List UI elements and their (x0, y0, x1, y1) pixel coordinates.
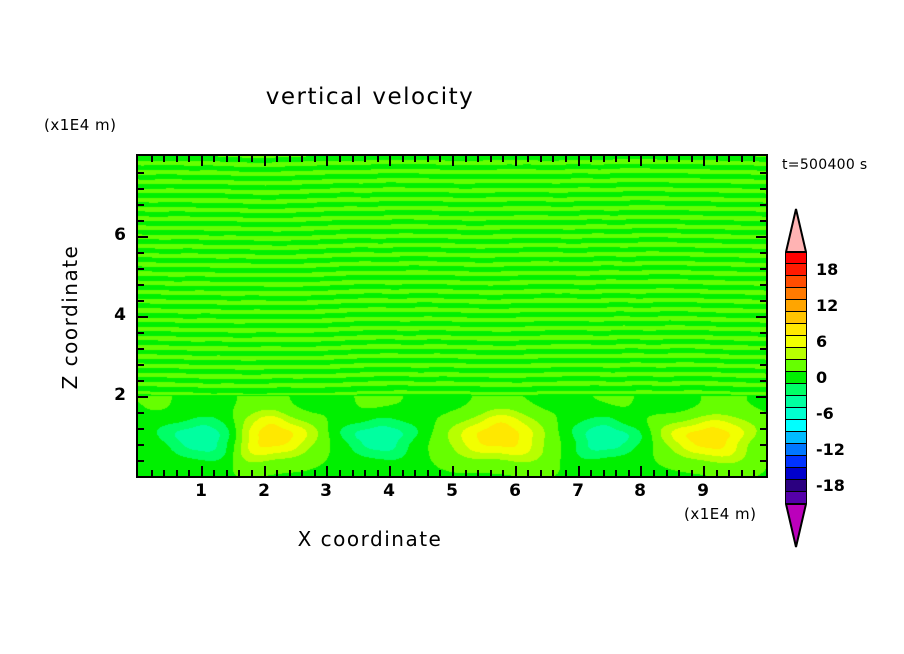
x-axis-title: X coordinate (0, 527, 740, 551)
x-tick-label: 3 (306, 481, 346, 501)
tick-mark (760, 380, 766, 382)
tick-mark (741, 156, 743, 162)
tick-mark (402, 470, 404, 476)
tick-mark (176, 156, 178, 162)
colorbar-band (785, 264, 807, 276)
tick-mark (760, 220, 766, 222)
tick-mark (703, 156, 705, 166)
tick-mark (138, 220, 144, 222)
tick-mark (439, 470, 441, 476)
tick-mark (276, 470, 278, 476)
tick-mark (515, 466, 517, 476)
tick-mark (138, 332, 144, 334)
tick-mark (465, 156, 467, 162)
tick-mark (490, 156, 492, 162)
tick-mark (578, 466, 580, 476)
tick-mark (251, 156, 253, 162)
tick-mark (326, 466, 328, 476)
colorbar-band (785, 420, 807, 432)
tick-mark (760, 268, 766, 270)
tick-mark (666, 156, 668, 162)
tick-mark (138, 268, 144, 270)
tick-mark (760, 460, 766, 462)
tick-mark (364, 470, 366, 476)
tick-mark (276, 156, 278, 162)
tick-mark (427, 470, 429, 476)
colorbar-band (785, 336, 807, 348)
tick-mark (201, 466, 203, 476)
colorbar-tick-label: -12 (816, 440, 845, 459)
tick-mark (251, 470, 253, 476)
tick-mark (756, 316, 766, 318)
tick-mark (264, 156, 266, 166)
tick-mark (138, 188, 144, 190)
tick-mark (138, 300, 144, 302)
colorbar-band (785, 348, 807, 360)
tick-mark (138, 364, 144, 366)
tick-mark (760, 172, 766, 174)
tick-mark (753, 470, 755, 476)
tick-mark (339, 156, 341, 162)
tick-mark (756, 236, 766, 238)
tick-mark (760, 332, 766, 334)
page-title: vertical velocity (0, 84, 740, 110)
tick-mark (540, 156, 542, 162)
tick-mark (640, 156, 642, 166)
tick-mark (760, 284, 766, 286)
tick-mark (515, 156, 517, 166)
tick-mark (753, 156, 755, 162)
colorbar-tick-label: 12 (816, 296, 838, 315)
tick-mark (741, 470, 743, 476)
colorbar-band (785, 288, 807, 300)
tick-mark (213, 156, 215, 162)
x-tick-label: 5 (432, 481, 472, 501)
colorbar-band (785, 300, 807, 312)
time-stamp-label: t=500400 s (782, 157, 867, 173)
tick-mark (339, 470, 341, 476)
colorbar-band (785, 432, 807, 444)
colorbar-tick-label: 18 (816, 260, 838, 279)
tick-mark (188, 156, 190, 162)
tick-mark (628, 156, 630, 162)
tick-mark (477, 156, 479, 162)
tick-mark (653, 156, 655, 162)
tick-mark (352, 470, 354, 476)
tick-mark (138, 460, 144, 462)
tick-mark (289, 470, 291, 476)
tick-mark (465, 470, 467, 476)
tick-mark (527, 470, 529, 476)
y-tick-label: 2 (86, 385, 126, 405)
tick-mark (578, 156, 580, 166)
tick-mark (565, 156, 567, 162)
tick-mark (138, 348, 144, 350)
colorbar-band (785, 276, 807, 288)
tick-mark (414, 156, 416, 162)
tick-mark (264, 466, 266, 476)
tick-mark (163, 156, 165, 162)
contour-plot-area (136, 154, 768, 478)
tick-mark (716, 470, 718, 476)
tick-mark (188, 470, 190, 476)
tick-mark (716, 156, 718, 162)
tick-mark (377, 470, 379, 476)
tick-mark (151, 470, 153, 476)
tick-mark (138, 236, 148, 238)
tick-mark (138, 252, 144, 254)
tick-mark (138, 444, 144, 446)
colorbar-band (785, 252, 807, 264)
colorbar-band (785, 468, 807, 480)
colorbar-tick-label: 0 (816, 368, 827, 387)
colorbar-band (785, 444, 807, 456)
tick-mark (490, 470, 492, 476)
tick-mark (314, 470, 316, 476)
tick-mark (226, 470, 228, 476)
tick-mark (756, 396, 766, 398)
tick-mark (691, 156, 693, 162)
tick-mark (201, 156, 203, 166)
tick-mark (502, 156, 504, 162)
tick-mark (628, 470, 630, 476)
x-tick-label: 7 (558, 481, 598, 501)
tick-mark (138, 428, 144, 430)
x-tick-label: 8 (620, 481, 660, 501)
tick-mark (138, 316, 148, 318)
tick-mark (138, 284, 144, 286)
tick-mark (552, 156, 554, 162)
tick-mark (502, 470, 504, 476)
colorbar-tick-label: 6 (816, 332, 827, 351)
tick-mark (540, 470, 542, 476)
tick-mark (352, 156, 354, 162)
tick-mark (640, 466, 642, 476)
x-tick-label: 2 (244, 481, 284, 501)
tick-mark (728, 470, 730, 476)
tick-mark (590, 156, 592, 162)
tick-mark (226, 156, 228, 162)
tick-mark (402, 156, 404, 162)
colorbar-band (785, 396, 807, 408)
tick-mark (163, 470, 165, 476)
x-tick-label: 1 (181, 481, 221, 501)
tick-mark (760, 348, 766, 350)
x-tick-label: 6 (495, 481, 535, 501)
tick-mark (691, 470, 693, 476)
tick-mark (238, 470, 240, 476)
vertical-velocity-field (138, 156, 766, 476)
tick-mark (477, 470, 479, 476)
colorbar-band (785, 456, 807, 468)
colorbar-band (785, 384, 807, 396)
tick-mark (377, 156, 379, 162)
y-tick-label: 6 (86, 225, 126, 245)
x-axis-unit-label: (x1E4 m) (684, 505, 757, 523)
tick-mark (678, 470, 680, 476)
tick-mark (301, 156, 303, 162)
tick-mark (760, 364, 766, 366)
colorbar-bottom-arrow (785, 503, 807, 549)
tick-mark (653, 470, 655, 476)
tick-mark (439, 156, 441, 162)
tick-mark (452, 466, 454, 476)
y-axis-title: Z coordinate (58, 217, 82, 417)
x-tick-label: 4 (369, 481, 409, 501)
tick-mark (138, 396, 148, 398)
tick-mark (138, 172, 144, 174)
tick-mark (427, 156, 429, 162)
tick-mark (728, 156, 730, 162)
tick-mark (389, 466, 391, 476)
tick-mark (760, 252, 766, 254)
y-axis-unit-label: (x1E4 m) (44, 116, 117, 134)
tick-mark (703, 466, 705, 476)
tick-mark (615, 470, 617, 476)
colorbar-bands (785, 252, 807, 504)
tick-mark (138, 380, 144, 382)
tick-mark (603, 470, 605, 476)
tick-mark (452, 156, 454, 166)
colorbar-band (785, 408, 807, 420)
colorbar-tick-label: -6 (816, 404, 834, 423)
tick-mark (213, 470, 215, 476)
tick-mark (760, 428, 766, 430)
colorbar-band (785, 312, 807, 324)
tick-mark (527, 156, 529, 162)
colorbar-band (785, 480, 807, 492)
tick-mark (590, 470, 592, 476)
colorbar-band (785, 372, 807, 384)
colorbar-band (785, 360, 807, 372)
x-tick-label: 9 (683, 481, 723, 501)
tick-mark (364, 156, 366, 162)
tick-mark (678, 156, 680, 162)
tick-mark (301, 470, 303, 476)
tick-mark (760, 188, 766, 190)
tick-mark (138, 412, 144, 414)
tick-mark (138, 204, 144, 206)
tick-mark (760, 444, 766, 446)
colorbar-tick-label: -18 (816, 476, 845, 495)
tick-mark (760, 412, 766, 414)
tick-mark (760, 204, 766, 206)
y-tick-label: 4 (86, 305, 126, 325)
tick-mark (151, 156, 153, 162)
tick-mark (615, 156, 617, 162)
tick-mark (552, 470, 554, 476)
tick-mark (238, 156, 240, 162)
colorbar-band (785, 324, 807, 336)
tick-mark (666, 470, 668, 476)
tick-mark (314, 156, 316, 162)
tick-mark (289, 156, 291, 162)
tick-mark (326, 156, 328, 166)
tick-mark (414, 470, 416, 476)
tick-mark (603, 156, 605, 162)
tick-mark (389, 156, 391, 166)
colorbar: 181260-6-12-18 (780, 200, 900, 520)
tick-mark (565, 470, 567, 476)
tick-mark (760, 300, 766, 302)
colorbar-top-arrow (785, 207, 807, 253)
tick-mark (176, 470, 178, 476)
